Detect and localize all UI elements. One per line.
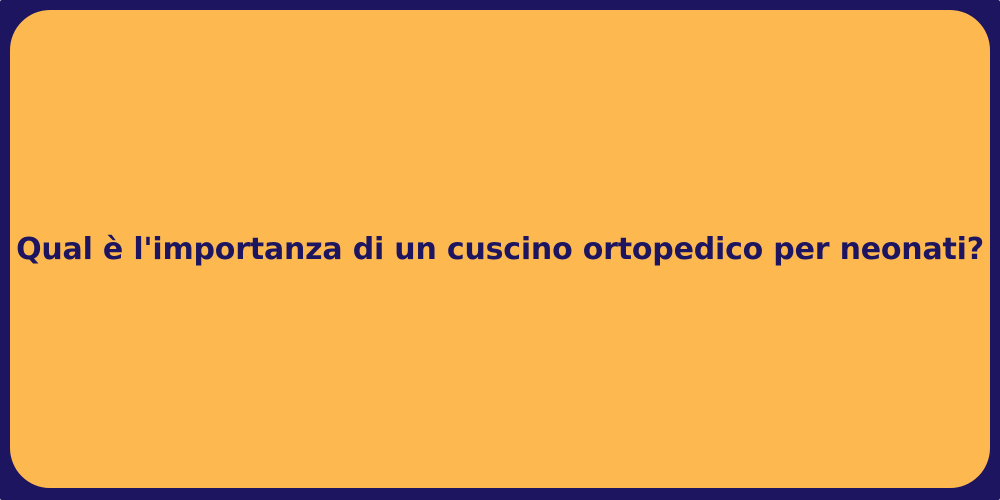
headline-question: Qual è l'importanza di un cuscino ortope… <box>16 230 984 269</box>
card-outer-frame: Qual è l'importanza di un cuscino ortope… <box>0 0 1000 500</box>
card-panel: Qual è l'importanza di un cuscino ortope… <box>10 10 990 488</box>
